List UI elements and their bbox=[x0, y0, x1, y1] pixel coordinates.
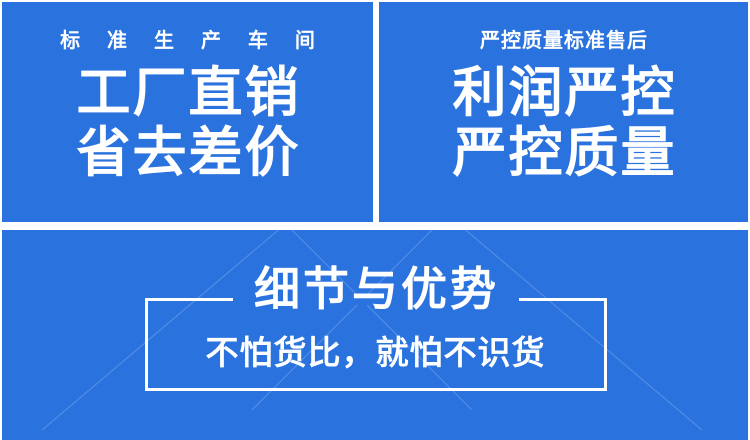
panel-right-headline-2: 严控质量 bbox=[451, 124, 677, 182]
panel-factory-direct: 标 准 生 产 车 间 工厂直销 省去差价 bbox=[2, 2, 373, 222]
panel-quality-control: 严控质量标准售后 利润严控 严控质量 bbox=[379, 2, 748, 222]
panel-left-headline-1: 工厂直销 bbox=[75, 64, 301, 122]
panel-left-eyebrow: 标 准 生 产 车 间 bbox=[50, 30, 325, 50]
promo-banner: 标 准 生 产 车 间 工厂直销 省去差价 严控质量标准售后 利润严控 严控质量… bbox=[0, 0, 750, 440]
panel-right-headline-1: 利润严控 bbox=[451, 64, 677, 122]
panel-right-eyebrow: 严控质量标准售后 bbox=[479, 30, 648, 50]
bottom-panel-subtitle: 不怕货比，就怕不识货 bbox=[2, 336, 748, 369]
panel-left-headline-2: 省去差价 bbox=[75, 124, 301, 182]
bottom-panel-title: 细节与优势 bbox=[2, 266, 748, 312]
panel-details-advantages: 细节与优势 不怕货比，就怕不识货 bbox=[2, 230, 748, 440]
